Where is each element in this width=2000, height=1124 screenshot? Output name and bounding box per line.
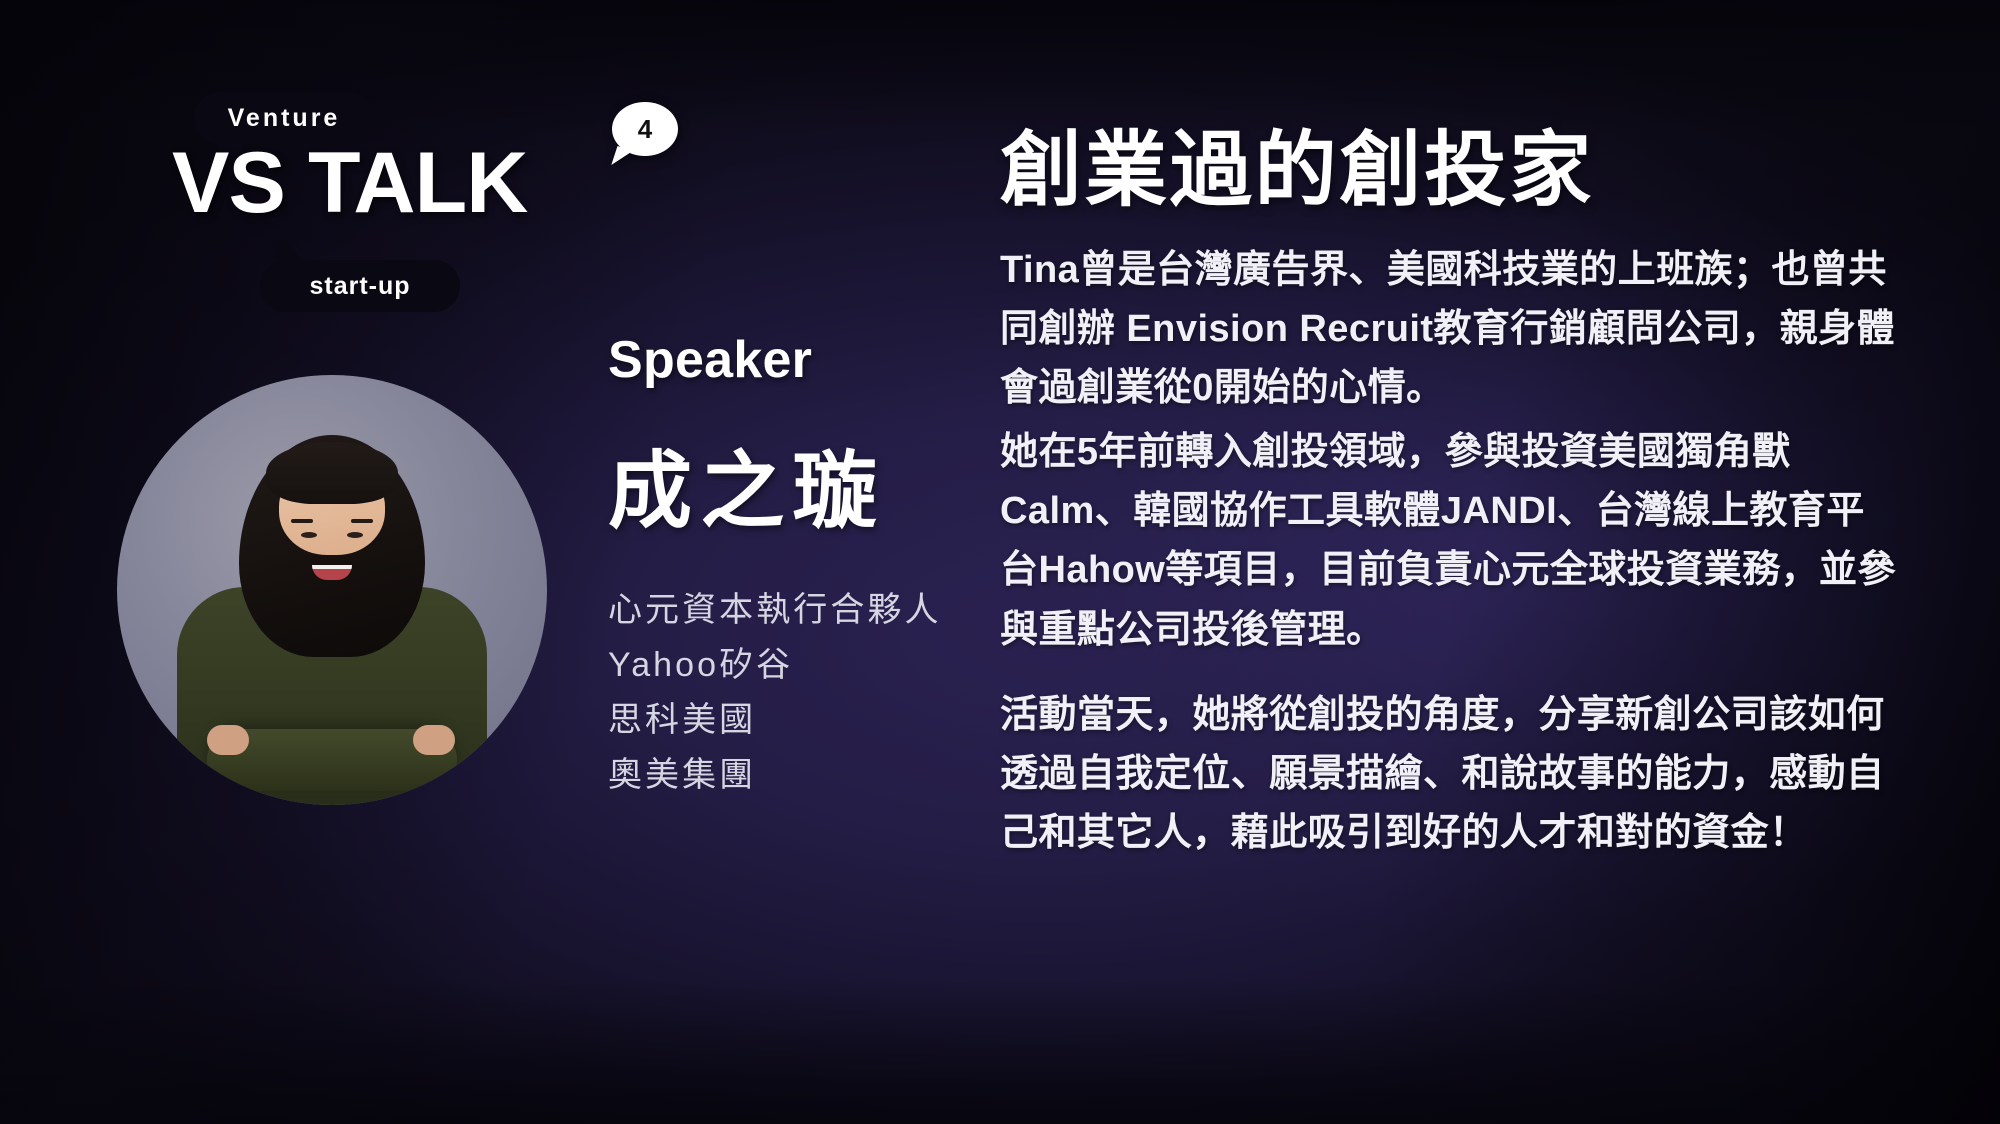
session-headline: 創業過的創投家 [1000,128,1900,215]
portrait-fringe [266,442,398,504]
speaker-block: Speaker 成之璇 心元資本執行合夥人 Yahoo矽谷 思科美國 奧美集團 [608,330,1008,803]
speaker-credentials-list: 心元資本執行合夥人 Yahoo矽谷 思科美國 奧美集團 [608,583,1008,803]
portrait-hand-right [413,725,455,755]
logo-tag-startup: start-up [260,260,460,312]
edition-number: 4 [638,114,652,145]
description-paragraph: 活動當天，她將從創投的角度，分享新創公司該如何透過自我定位、願景描繪、和說故事的… [1000,686,1900,864]
speaker-photo [117,375,547,805]
speech-bubble-icon: 4 [612,102,678,156]
portrait-brow-right [351,519,373,523]
speaker-label: Speaker [608,330,1008,390]
credential-item: Yahoo矽谷 [608,638,1008,693]
content-block: 創業過的創投家 Tina曾是台灣廣告界、美國科技業的上班族；也曾共同創辦 Env… [1000,128,1900,864]
credential-item: 奧美集團 [608,748,1008,803]
portrait-eye-left [301,532,317,538]
slide-canvas: Venture VS TALK 4 start-up Speaker 成之璇 心… [0,0,2000,1124]
description-paragraph: 她在5年前轉入創投領域，參與投資美國獨角獸Calm、韓國協作工具軟體JANDI、… [1000,423,1900,660]
portrait-hand-left [207,725,249,755]
logo-wordmark: VS TALK [172,140,528,226]
portrait-eye-right [347,532,363,538]
vs-talk-logo: Venture VS TALK 4 start-up [172,92,592,322]
description-paragraph: Tina曾是台灣廣告界、美國科技業的上班族；也曾共同創辦 Envision Re… [1000,241,1900,419]
speaker-name: 成之璇 [608,424,1008,545]
portrait-brow-left [291,519,313,523]
credential-item: 思科美國 [608,693,1008,748]
credential-item: 心元資本執行合夥人 [608,583,1008,638]
